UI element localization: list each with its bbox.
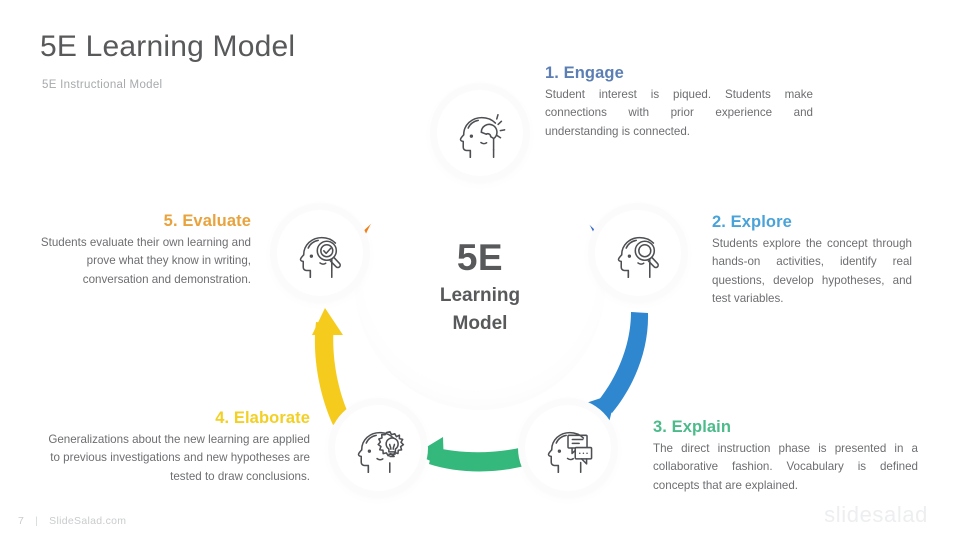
center-label: 5E Learning Model xyxy=(355,160,605,410)
center-subtitle-line2: Model xyxy=(453,312,508,335)
head-speech-bubbles-icon xyxy=(539,419,597,477)
node-explore[interactable] xyxy=(595,210,681,296)
step-block-explain: 3. Explain The direct instruction phase … xyxy=(653,418,918,495)
footer-site: SlideSalad.com xyxy=(49,515,126,527)
step-body-engage: Student interest is piqued. Students mak… xyxy=(545,86,813,141)
node-explain[interactable] xyxy=(525,405,611,491)
slide-canvas: 5E Learning Model 5E Instructional Model xyxy=(0,0,960,540)
step-body-elaborate: Generalizations about the new learning a… xyxy=(48,431,310,486)
step-block-evaluate: 5. Evaluate Students evaluate their own … xyxy=(38,212,251,289)
step-block-elaborate: 4. Elaborate Generalizations about the n… xyxy=(48,409,310,486)
head-magnet-icon xyxy=(451,104,509,162)
head-lightbulb-gear-icon xyxy=(349,419,407,477)
footer: 7 | SlideSalad.com xyxy=(18,515,126,527)
step-heading-elaborate: 4. Elaborate xyxy=(48,409,310,428)
step-block-explore: 2. Explore Students explore the concept … xyxy=(712,213,912,308)
center-title: 5E xyxy=(457,235,503,280)
footer-separator: | xyxy=(35,515,38,527)
arrow-explain-to-elaborate xyxy=(415,437,542,471)
node-engage[interactable] xyxy=(437,90,523,176)
step-body-explain: The direct instruction phase is presente… xyxy=(653,440,918,495)
step-body-evaluate: Students evaluate their own learning and… xyxy=(38,234,251,289)
step-block-engage: 1. Engage Student interest is piqued. St… xyxy=(545,64,813,141)
head-magnifier-check-icon xyxy=(291,224,349,282)
node-elaborate[interactable] xyxy=(335,405,421,491)
step-heading-engage: 1. Engage xyxy=(545,64,813,83)
step-heading-explain: 3. Explain xyxy=(653,418,918,437)
brand-watermark: slidesalad xyxy=(824,502,928,528)
head-magnifier-icon xyxy=(609,224,667,282)
step-heading-evaluate: 5. Evaluate xyxy=(38,212,251,231)
step-body-explore: Students explore the concept through han… xyxy=(712,235,912,308)
step-heading-explore: 2. Explore xyxy=(712,213,912,232)
page-number: 7 xyxy=(18,515,24,527)
node-evaluate[interactable] xyxy=(277,210,363,296)
page-subtitle: 5E Instructional Model xyxy=(42,79,162,91)
arrow-elaborate-to-evaluate xyxy=(312,308,350,425)
center-subtitle-line1: Learning xyxy=(440,284,520,307)
